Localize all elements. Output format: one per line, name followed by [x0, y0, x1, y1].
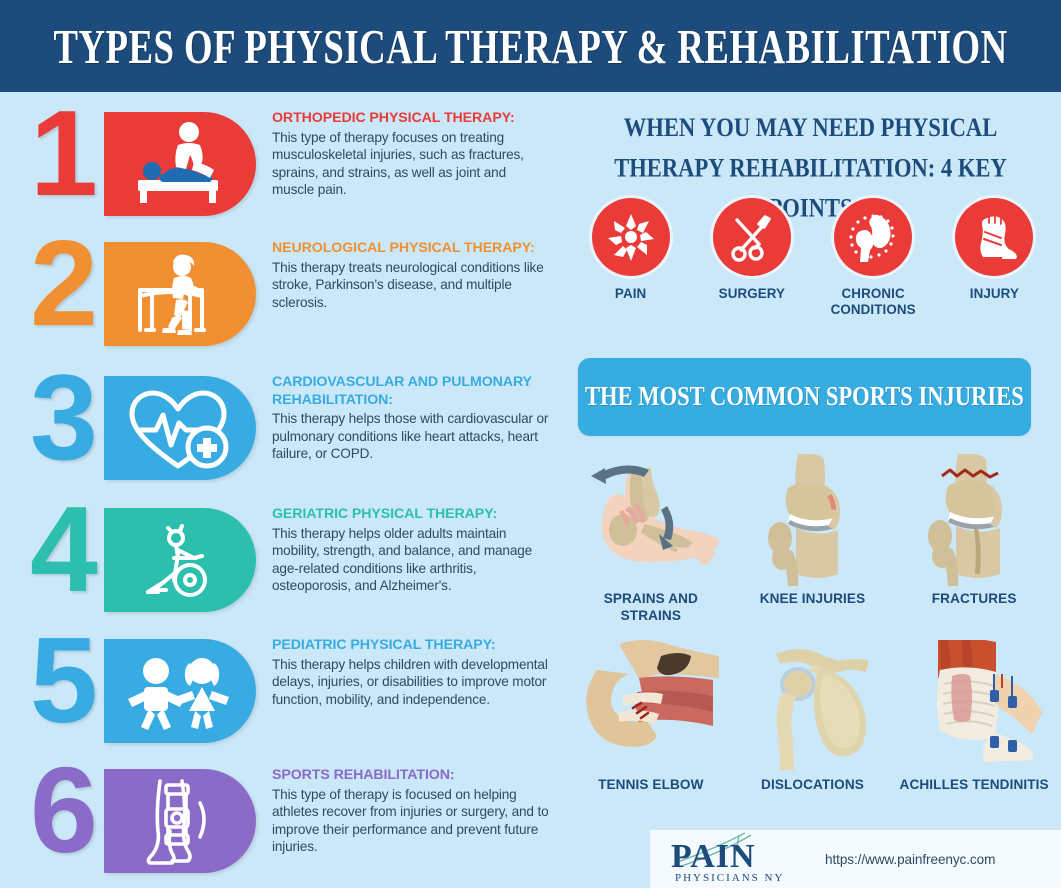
injury-item: TENNIS ELBOW: [573, 640, 728, 793]
injury-row: SPRAINS AND STRAINS: [570, 454, 1055, 624]
therapy-number: 5: [30, 619, 94, 741]
injury-label: FRACTURES: [932, 590, 1017, 607]
therapy-heading: CARDIOVASCULAR AND PULMONARY REHABILITAT…: [272, 374, 550, 409]
therapy-body: This therapy helps older adults maintain…: [272, 525, 550, 595]
therapy-text: SPORTS REHABILITATION: This type of ther…: [272, 767, 550, 856]
therapy-text: GERIATRIC PHYSICAL THERAPY: This therapy…: [272, 506, 550, 595]
therapy-heading: PEDIATRIC PHYSICAL THERAPY:: [272, 637, 550, 655]
therapy-type-item: 1 ORTHOPEDIC PHYSICAL: [0, 100, 560, 230]
therapy-number: 1: [30, 92, 94, 214]
therapy-body: This type of therapy focuses on treating…: [272, 129, 550, 199]
therapy-text: ORTHOPEDIC PHYSICAL THERAPY: This type o…: [272, 110, 550, 199]
elbow-tendon-anatomy: [575, 640, 727, 772]
therapy-badge: 5: [30, 631, 260, 749]
key-point-item: SURGERY: [696, 198, 808, 302]
therapy-number: 3: [30, 356, 94, 478]
injury-label: SPRAINS AND STRAINS: [573, 590, 728, 624]
massage-therapy-icon: [116, 118, 240, 210]
logo-main-text: PAIN: [671, 838, 756, 875]
sports-injuries-banner: THE MOST COMMON SPORTS INJURIES: [578, 358, 1031, 436]
therapy-heading: SPORTS REHABILITATION:: [272, 767, 550, 785]
two-children-icon: [116, 645, 240, 737]
key-point-circle: [955, 198, 1033, 276]
key-point-circle: [592, 198, 670, 276]
key-point-item: CHRONIC CONDITIONS: [817, 198, 929, 318]
fractured-knee-anatomy: [898, 454, 1050, 586]
pain-burst-icon: [604, 210, 658, 264]
therapy-badge: 2: [30, 234, 260, 352]
website-url[interactable]: https://www.painfreenyc.com: [825, 852, 995, 867]
key-point-label: INJURY: [970, 286, 1019, 302]
therapy-heading: NEUROLOGICAL PHYSICAL THERAPY:: [272, 240, 550, 258]
right-column: WHEN YOU MAY NEED PHYSICAL THERAPY REHAB…: [560, 92, 1061, 888]
therapy-types-list: 1 ORTHOPEDIC PHYSICAL: [0, 92, 560, 888]
bandaged-foot-icon: [967, 210, 1021, 264]
therapy-number: 2: [30, 222, 94, 344]
therapy-heading: ORTHOPEDIC PHYSICAL THERAPY:: [272, 110, 550, 128]
therapy-type-item: 4: [0, 496, 560, 626]
injury-item: ACHILLES TENDINITIS: [897, 640, 1052, 793]
therapy-type-item: 2: [0, 230, 560, 360]
therapy-type-item: 3 CARDIOVASCULAR AND PULMONARY REHABILIT…: [0, 364, 560, 494]
therapy-body: This therapy helps those with cardiovasc…: [272, 410, 550, 463]
therapy-badge: 3: [30, 368, 260, 486]
therapy-body: This therapy treats neurological conditi…: [272, 259, 550, 312]
key-point-label: PAIN: [615, 286, 646, 302]
injury-label: DISLOCATIONS: [761, 776, 864, 793]
injury-item: SPRAINS AND STRAINS: [573, 454, 728, 624]
key-point-item: PAIN: [575, 198, 687, 302]
walker-gait-training-icon: [116, 248, 240, 340]
achilles-tendon-anatomy: [898, 640, 1050, 772]
injury-item: KNEE INJURIES: [735, 454, 890, 607]
page-title: TYPES OF PHYSICAL THERAPY & REHABILITATI…: [53, 17, 1007, 74]
key-point-label: CHRONIC CONDITIONS: [817, 286, 929, 318]
therapy-text: PEDIATRIC PHYSICAL THERAPY: This therapy…: [272, 637, 550, 708]
injury-label: ACHILLES TENDINITIS: [900, 776, 1049, 793]
therapy-body: This type of therapy is focused on helpi…: [272, 786, 550, 856]
scalpel-scissors-icon: [725, 210, 779, 264]
key-point-item: INJURY: [938, 198, 1050, 302]
therapy-heading: GERIATRIC PHYSICAL THERAPY:: [272, 506, 550, 524]
sports-injuries-grid: SPRAINS AND STRAINS: [570, 454, 1055, 793]
key-point-label: SURGERY: [719, 286, 785, 302]
ankle-sprain-anatomy: [575, 454, 727, 586]
therapy-badge: 1: [30, 104, 260, 222]
leg-brace-icon: [116, 775, 240, 867]
therapy-text: NEUROLOGICAL PHYSICAL THERAPY: This ther…: [272, 240, 550, 311]
therapy-number: 6: [30, 749, 94, 871]
pain-physicians-ny-logo: PAIN PHYSICIANS NY: [650, 830, 825, 888]
injury-item: FRACTURES: [897, 454, 1052, 607]
therapy-text: CARDIOVASCULAR AND PULMONARY REHABILITAT…: [272, 374, 550, 463]
therapy-type-item: 5: [0, 627, 560, 757]
shoulder-joint-anatomy: [736, 640, 888, 772]
key-point-circle: [713, 198, 791, 276]
therapy-number: 4: [30, 488, 94, 610]
injury-label: KNEE INJURIES: [760, 590, 866, 607]
therapy-badge: 4: [30, 500, 260, 618]
injury-item: DISLOCATIONS: [735, 640, 890, 793]
wheelchair-assist-icon: [116, 514, 240, 606]
heart-pulse-icon: [116, 382, 240, 474]
key-point-circle: [834, 198, 912, 276]
injury-row: TENNIS ELBOW: [570, 640, 1055, 793]
key-points-row: PAIN: [570, 198, 1055, 318]
infographic-page: TYPES OF PHYSICAL THERAPY & REHABILITATI…: [0, 0, 1061, 888]
therapy-type-item: 6: [0, 757, 560, 887]
therapy-body: This therapy helps children with develop…: [272, 656, 550, 709]
footer-bar: PAIN PHYSICIANS NY https://www.painfreen…: [650, 830, 1061, 888]
hip-joint-icon: [846, 210, 900, 264]
logo-sub-text: PHYSICIANS NY: [675, 872, 784, 884]
header-band: TYPES OF PHYSICAL THERAPY & REHABILITATI…: [0, 0, 1061, 92]
injury-label: TENNIS ELBOW: [598, 776, 703, 793]
therapy-badge: 6: [30, 761, 260, 879]
banner-text: THE MOST COMMON SPORTS INJURIES: [585, 381, 1024, 412]
knee-joint-anatomy: [736, 454, 888, 586]
